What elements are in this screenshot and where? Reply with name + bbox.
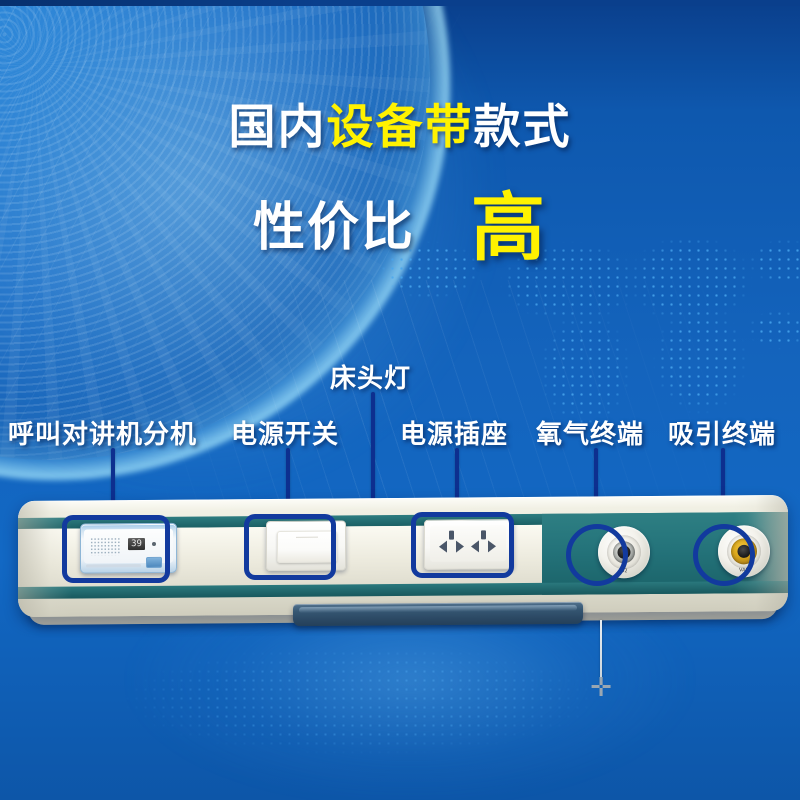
oxygen-terminal-marking: O2 <box>620 568 627 574</box>
pull-cord-weight-icon: ✛ <box>589 676 613 700</box>
callout-label-power-socket: 电源插座 <box>400 414 508 451</box>
callout-label-bed-lamp: 床头灯 <box>330 358 411 395</box>
socket-neutral-slot <box>456 541 464 553</box>
headline-line2-part1: 性价比 <box>253 185 415 260</box>
panel-end-cap-left <box>18 501 72 617</box>
headline-line1-part3: 款式 <box>474 88 572 157</box>
suction-terminal-outlet[interactable]: VAC <box>718 525 770 577</box>
callout-label-intercom: 呼叫对讲机分机 <box>8 414 197 451</box>
socket-earth-pin-slot <box>449 531 454 540</box>
speaker-grille-icon <box>90 537 120 555</box>
suction-terminal-marking: VAC <box>739 567 749 573</box>
power-socket-plate[interactable] <box>424 519 514 570</box>
indicator-led-icon <box>152 542 156 546</box>
callout-label-suction: 吸引终端 <box>668 414 776 451</box>
headline-line1-part1: 国内 <box>229 88 327 157</box>
headline-line1-highlight: 设备带 <box>327 88 474 157</box>
headline-line2-highlight: 高 <box>471 168 547 275</box>
suction-terminal-core <box>731 538 757 564</box>
product-promo-image: 国内 设备带 款式 性价比 高 呼叫对讲机分机 电源开关 床头灯 电源插座 氧气… <box>0 0 800 800</box>
callout-label-oxygen: 氧气终端 <box>536 414 644 451</box>
socket-earth-pin-slot <box>481 530 486 539</box>
rocker-switch[interactable] <box>277 531 337 563</box>
panel-body: 39 <box>18 495 788 617</box>
socket-inner-face <box>430 525 506 562</box>
oxygen-terminal-port <box>618 546 631 559</box>
top-edge-bar <box>0 0 800 6</box>
socket-outlet-2[interactable] <box>469 530 499 556</box>
nurse-call-intercom-unit[interactable]: 39 <box>80 523 177 574</box>
bed-lamp-fixture[interactable] <box>293 602 583 626</box>
socket-live-slot <box>471 540 479 552</box>
rocker-switch-line <box>296 537 318 538</box>
oxygen-terminal-outlet[interactable]: O2 <box>598 526 650 578</box>
intercom-faceplate: 39 <box>84 529 173 564</box>
intercom-call-button[interactable] <box>146 557 162 568</box>
socket-live-slot <box>439 541 447 553</box>
suction-terminal-port <box>738 545 751 558</box>
socket-outlet-1[interactable] <box>437 530 467 556</box>
medical-bed-head-unit: 39 <box>18 498 788 626</box>
callout-label-power-switch: 电源开关 <box>231 414 339 451</box>
intercom-bottom-slot <box>86 564 141 567</box>
headline-line-1: 国内 设备带 款式 <box>0 88 800 157</box>
oxygen-terminal-core <box>613 541 635 563</box>
intercom-display: 39 <box>128 538 145 550</box>
socket-neutral-slot <box>488 540 496 552</box>
headline-line-2: 性价比 高 <box>0 160 800 267</box>
power-switch-plate[interactable] <box>266 520 346 571</box>
